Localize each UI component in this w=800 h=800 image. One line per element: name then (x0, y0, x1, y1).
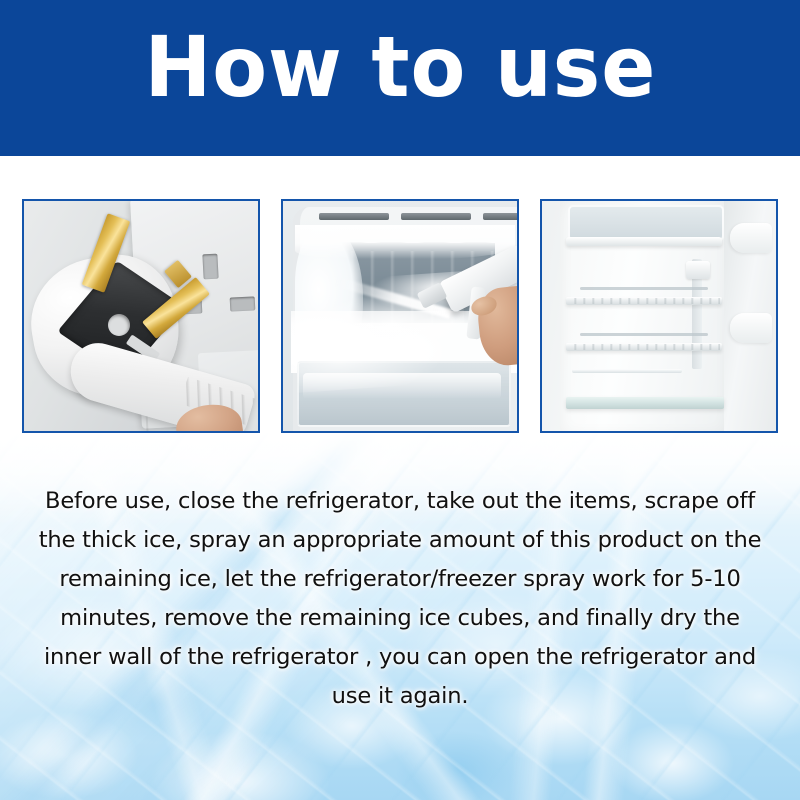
freezer-vent-1 (319, 213, 389, 220)
fridge-wire-shelf-1-grid (568, 298, 720, 304)
socket-slot-neutral (230, 296, 256, 311)
page-title: How to use (144, 25, 656, 109)
freezer-vent-3 (483, 213, 517, 220)
spray-freezer-photo-content (283, 201, 517, 431)
header-banner: How to use (0, 0, 800, 156)
fridge-glass-shelf (566, 397, 724, 409)
fridge-wire-shelf-2-rail (580, 333, 708, 336)
how-to-use-infographic: How to use (0, 0, 800, 800)
clean-fridge-photo-content (542, 201, 776, 431)
clean-fridge-photo (540, 199, 778, 433)
fridge-shelf-clip (686, 261, 710, 279)
fridge-door-shelf-bottom (730, 313, 772, 343)
frost-buildup-top (295, 225, 515, 259)
fridge-wire-shelf-2-grid (568, 344, 720, 350)
fridge-top-compartment (568, 205, 724, 241)
plug-photo (22, 199, 260, 433)
instructions-paragraph: Before use, close the refrigerator, take… (36, 482, 764, 716)
fridge-door-shelf-top (730, 223, 772, 253)
fridge-top-compartment-lip (566, 237, 722, 246)
socket-slot-earth (202, 254, 218, 280)
fridge-wire-shelf-1-rail (580, 287, 708, 290)
plug-photo-content (24, 201, 258, 431)
photo-row (22, 199, 778, 433)
fridge-lower-divider (572, 369, 682, 373)
spray-freezer-photo (281, 199, 519, 433)
freezer-vent-2 (401, 213, 471, 220)
